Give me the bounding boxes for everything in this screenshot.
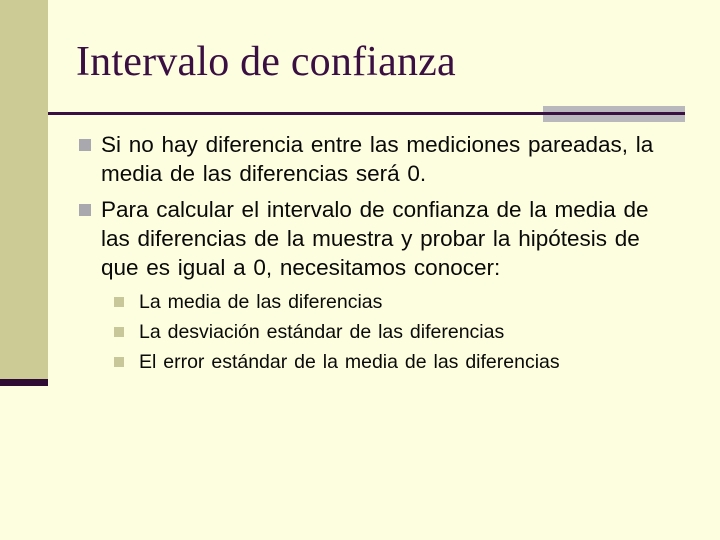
title-underline-rule bbox=[48, 112, 685, 115]
bullet-text: Para calcular el intervalo de confianza … bbox=[101, 197, 649, 280]
sub-bullet-text: La desviación estándar de las diferencia… bbox=[139, 321, 504, 343]
small-square-bullet-icon bbox=[114, 357, 124, 367]
slide-title: Intervalo de confianza bbox=[76, 38, 676, 86]
list-item: El error estándar de la media de las dif… bbox=[112, 349, 678, 375]
list-item: Para calcular el intervalo de confianza … bbox=[78, 195, 678, 282]
list-item: La desviación estándar de las diferencia… bbox=[112, 319, 678, 345]
sub-bullet-list: La media de las diferencias La desviació… bbox=[78, 289, 678, 375]
bullet-list: Si no hay diferencia entre las medicione… bbox=[78, 130, 678, 282]
list-item: La media de las diferencias bbox=[112, 289, 678, 315]
sub-bullet-text: El error estándar de la media de las dif… bbox=[139, 351, 560, 373]
left-decorative-band bbox=[0, 0, 48, 379]
small-square-bullet-icon bbox=[114, 327, 124, 337]
slide: Intervalo de confianza Si no hay diferen… bbox=[0, 0, 720, 540]
square-bullet-icon bbox=[79, 204, 91, 216]
small-square-bullet-icon bbox=[114, 297, 124, 307]
sub-bullet-text: La media de las diferencias bbox=[139, 291, 382, 313]
square-bullet-icon bbox=[79, 139, 91, 151]
bullet-text: Si no hay diferencia entre las medicione… bbox=[101, 132, 653, 186]
slide-body: Si no hay diferencia entre las medicione… bbox=[78, 130, 678, 379]
list-item: Si no hay diferencia entre las medicione… bbox=[78, 130, 678, 188]
left-band-foot-bar bbox=[0, 379, 48, 386]
